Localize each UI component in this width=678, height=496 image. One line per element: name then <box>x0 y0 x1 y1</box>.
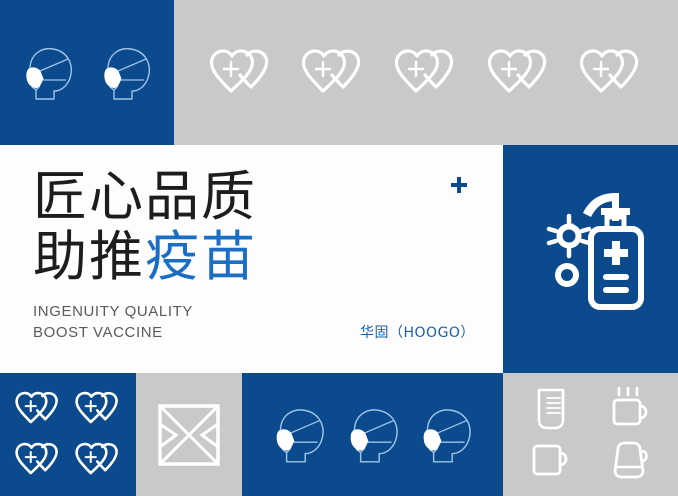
plain-mug-icon <box>529 440 573 480</box>
vessel-icon-grid <box>503 373 678 496</box>
brand-name: 华固（HOOGO） <box>360 322 475 342</box>
bottom-mask-panel <box>242 373 503 496</box>
subtitle-line-2: BOOST VACCINE <box>33 322 257 343</box>
headline-line-2-plain: 助推 <box>33 225 145 288</box>
double-heart-plus-icon <box>293 45 373 101</box>
steaming-mug-icon <box>607 386 653 432</box>
poster-canvas: 匠心品质 助推疫苗 INGENUITY QUALITY BOOST VACCIN… <box>0 0 678 496</box>
masked-face-icon-group-bottom <box>242 373 503 496</box>
headline-line-2-accent: 疫苗 <box>145 225 257 288</box>
subtitle-line-1: INGENUITY QUALITY <box>33 301 257 322</box>
top-left-blue-panel <box>0 0 174 145</box>
masked-face-icon <box>266 404 332 466</box>
double-heart-plus-icon <box>201 45 281 101</box>
sanitizer-panel <box>503 145 678 373</box>
measuring-beaker-icon <box>531 386 571 432</box>
double-heart-plus-icon <box>479 45 559 101</box>
placeholder-icon-wrap <box>136 373 242 496</box>
subtitle-block: INGENUITY QUALITY BOOST VACCINE <box>33 301 257 343</box>
vessel-icon-panel <box>503 373 678 496</box>
double-heart-icon-group-top <box>174 0 678 145</box>
bottom-heart-panel <box>0 373 136 496</box>
image-placeholder-x-icon <box>156 402 222 468</box>
masked-face-icon-group-top <box>0 0 174 145</box>
hand-sanitizer-bottle-icon <box>521 179 661 339</box>
sanitizer-icon-group <box>503 145 678 373</box>
double-heart-plus-icon <box>9 439 67 481</box>
headline-line-1-text: 匠心品质 <box>33 165 257 228</box>
double-heart-plus-icon <box>69 439 127 481</box>
masked-face-icon <box>413 404 479 466</box>
masked-face-icon <box>94 43 158 103</box>
double-heart-plus-icon <box>386 45 466 101</box>
plus-icon <box>449 175 469 195</box>
masked-face-icon <box>340 404 406 466</box>
top-right-gray-panel <box>174 0 678 145</box>
kettle-icon <box>607 439 653 481</box>
double-heart-icon-grid <box>0 373 136 496</box>
headline-block: 匠心品质 助推疫苗 INGENUITY QUALITY BOOST VACCIN… <box>33 167 257 343</box>
double-heart-plus-icon <box>9 388 67 430</box>
double-heart-plus-icon <box>571 45 651 101</box>
headline-line-1: 匠心品质 <box>33 167 257 227</box>
placeholder-panel <box>136 373 242 496</box>
virus-germ-icon <box>549 216 589 287</box>
masked-face-icon <box>16 43 80 103</box>
headline-line-2: 助推疫苗 <box>33 227 257 287</box>
double-heart-plus-icon <box>69 388 127 430</box>
